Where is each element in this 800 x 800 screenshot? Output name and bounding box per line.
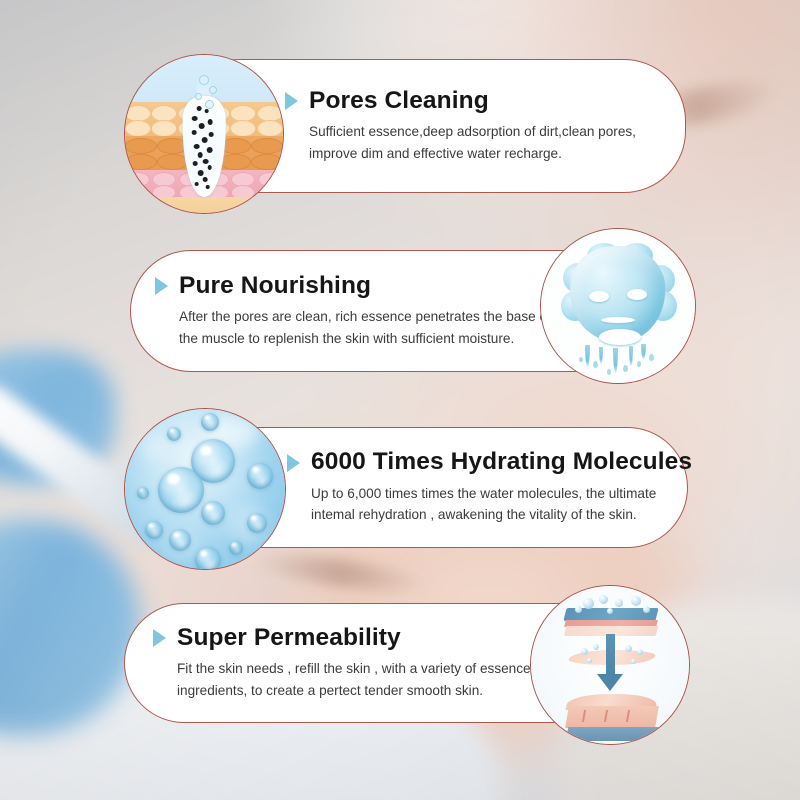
mask-right-eye-hole — [627, 289, 647, 300]
feature-1-heading: Pores Cleaning — [285, 88, 651, 115]
water-bubble — [201, 501, 225, 525]
essence-molecule — [587, 658, 592, 663]
extracted-bubble — [205, 100, 214, 109]
water-mask-sheet — [570, 246, 665, 341]
water-bubble — [195, 547, 221, 570]
skin-pore-extraction-illustration — [124, 54, 284, 214]
dripping-water-face-mask-illustration — [540, 228, 696, 384]
infographic-poster: Pores Cleaning Sufficient essence,deep a… — [0, 0, 800, 800]
essence-molecule — [643, 606, 650, 613]
water-bubble — [167, 427, 181, 441]
feature-3-description: Up to 6,000 times times the water molecu… — [287, 483, 663, 526]
feature-1-title: Pores Cleaning — [309, 88, 489, 115]
feature-4-description: Fit the skin needs , refill the skin , w… — [153, 658, 547, 701]
water-bubbles-molecules-photo — [124, 408, 286, 570]
essence-molecule — [583, 598, 594, 609]
play-triangle-icon — [155, 277, 168, 295]
mask-left-eye-hole — [589, 291, 609, 302]
feature-3-heading: 6000 Times Hydrating Molecules — [287, 449, 663, 476]
water-droplet — [637, 361, 641, 367]
essence-molecule — [637, 649, 643, 655]
feature-card-3-content: 6000 Times Hydrating Molecules Up to 6,0… — [287, 428, 663, 547]
feature-card-1-content: Pores Cleaning Sufficient essence,deep a… — [285, 60, 651, 192]
essence-molecule — [625, 645, 632, 652]
essence-molecule — [575, 606, 582, 613]
water-bubble — [229, 541, 243, 555]
essence-molecule — [615, 599, 623, 607]
feature-card-2-content: Pure Nourishing After the pores are clea… — [155, 251, 551, 371]
feature-1-description: Sufficient essence,deep adsorption of di… — [285, 121, 651, 164]
extracted-bubble — [195, 93, 202, 100]
essence-molecule — [607, 608, 613, 614]
water-bubble — [247, 513, 267, 533]
extracted-bubble — [199, 75, 209, 85]
mask-mouth-hole — [599, 329, 641, 345]
essence-molecule — [631, 659, 636, 664]
water-bubble — [201, 413, 219, 431]
extracted-bubble — [209, 86, 217, 94]
play-triangle-icon — [153, 629, 166, 647]
water-droplet — [623, 365, 628, 372]
water-droplet — [649, 354, 654, 361]
feature-card-4-content: Super Permeability Fit the skin needs , … — [153, 604, 547, 722]
feature-3-title: 6000 Times Hydrating Molecules — [311, 449, 692, 476]
play-triangle-icon — [285, 92, 298, 110]
skin-fat-layer — [125, 197, 283, 213]
water-droplet — [593, 361, 598, 368]
water-droplet — [607, 369, 611, 375]
hypodermis-body — [566, 727, 658, 741]
penetration-arrow-head — [597, 674, 623, 691]
essence-molecule — [593, 644, 599, 650]
essence-molecule — [599, 595, 608, 604]
essence-molecule — [631, 596, 641, 606]
feature-4-heading: Super Permeability — [153, 625, 547, 652]
feature-4-title: Super Permeability — [177, 625, 401, 652]
play-triangle-icon — [287, 454, 300, 472]
penetration-arrow-shaft — [606, 634, 615, 676]
essence-molecule — [581, 648, 588, 655]
feature-2-title: Pure Nourishing — [179, 273, 371, 300]
water-bubble — [145, 521, 163, 539]
feature-2-heading: Pure Nourishing — [155, 273, 551, 300]
dermis-body — [565, 706, 659, 728]
feature-2-description: After the pores are clean, rich essence … — [155, 306, 551, 349]
water-bubble — [169, 529, 191, 551]
water-droplet — [579, 357, 583, 362]
water-bubble — [247, 463, 273, 489]
water-bubble — [158, 467, 204, 513]
water-bubble — [137, 487, 149, 499]
skin-layer-penetration-diagram — [530, 585, 690, 745]
mask-nose-hole — [601, 317, 635, 323]
